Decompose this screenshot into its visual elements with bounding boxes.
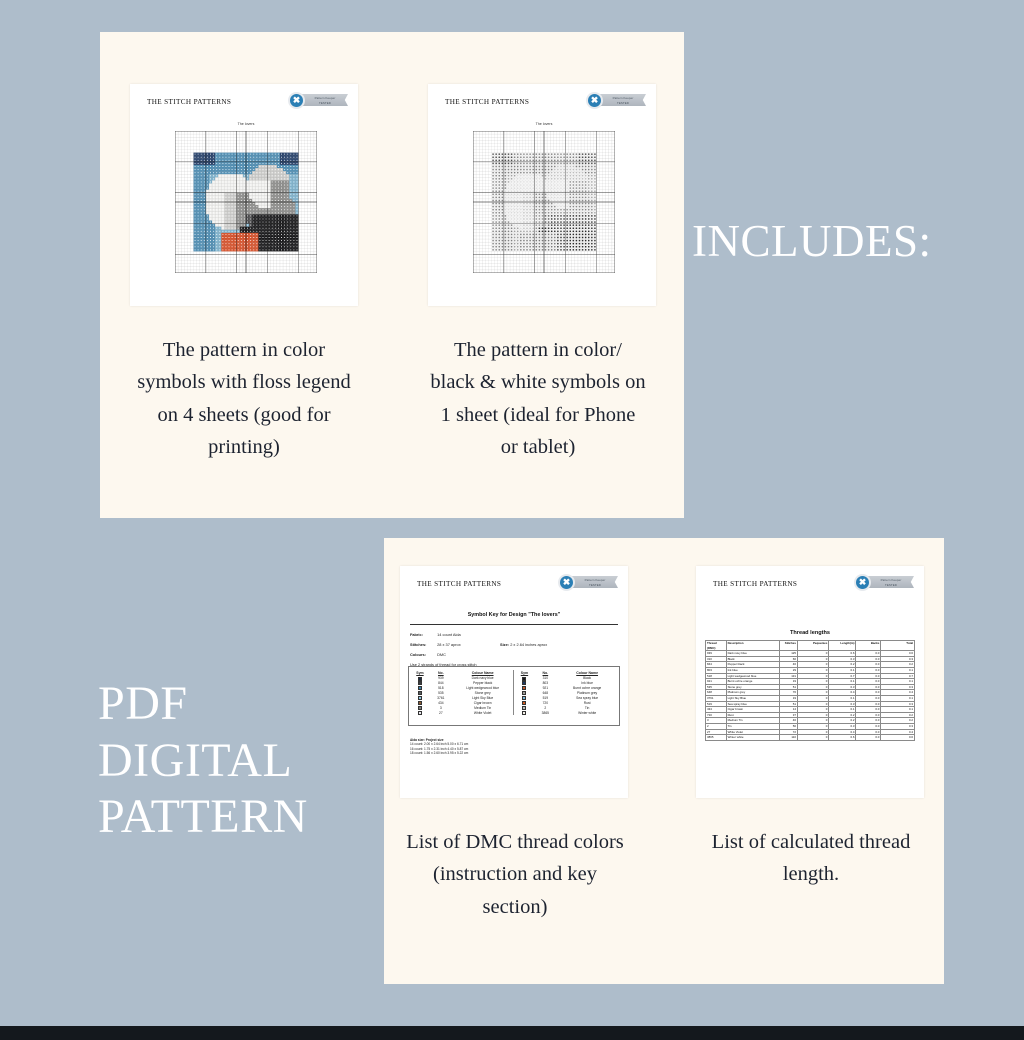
thread-lengths-body: 939Dark navy blue12500.60.00.6310Black66…: [706, 651, 915, 741]
table-row: 3865Winter white11000.60.00.6: [706, 735, 915, 741]
poster-stage: INCLUDES: PDF DIGITAL PATTERN THE STITCH…: [0, 0, 1024, 1040]
badge-ribbon: Pattern Keeper TESTED: [600, 94, 646, 106]
pattern-keeper-tested-badge: Pattern Keeper TESTED ✖: [558, 574, 618, 591]
badge-x-mark: ✖: [563, 578, 571, 587]
color-swatch-icon: [418, 696, 422, 700]
chart-design-label: The lovers: [175, 122, 317, 126]
thread-col-header: Backs: [856, 641, 881, 651]
badge-disc-icon: ✖: [558, 574, 575, 591]
color-swatch-icon: [522, 706, 526, 710]
sheet-brand-title: THE STITCH PATTERNS: [445, 98, 529, 106]
thread-col-header: Stitches: [779, 641, 797, 651]
color-swatch-icon: [522, 711, 526, 715]
caption-bw-symbols: The pattern in color/ black & white symb…: [430, 334, 646, 464]
badge-line-2: TESTED: [868, 582, 914, 588]
badge-x-mark: ✖: [293, 96, 301, 105]
sheet-brand-title: THE STITCH PATTERNS: [417, 580, 501, 588]
color-swatch-icon: [418, 686, 422, 690]
badge-ribbon: Pattern Keeper TESTED: [302, 94, 348, 106]
spec-colours: Colours: DMC: [410, 652, 446, 657]
spec-colours-label: Colours:: [410, 652, 436, 657]
thread-lengths-table: Thread (DMC)DescriptionStitchesPequenies…: [705, 640, 915, 741]
color-swatch-icon: [522, 686, 526, 690]
color-swatch-icon: [522, 691, 526, 695]
color-swatch-icon: [522, 677, 526, 681]
aida-size-footer: Aida size: Project size 14 count: 2.00 x…: [410, 738, 468, 755]
caption-color-symbols: The pattern in color symbols with floss …: [136, 334, 352, 464]
color-swatch-icon: [418, 706, 422, 710]
sheet-bw-symbol-chart[interactable]: THE STITCH PATTERNS Pattern Keeper TESTE…: [428, 84, 656, 306]
chart-design-label: The lovers: [473, 122, 615, 126]
color-swatch-icon: [418, 681, 422, 685]
pdf-line-2: DIGITAL: [98, 733, 308, 790]
pattern-keeper-tested-badge: Pattern Keeper TESTED ✖: [586, 92, 646, 109]
aida-footer-line: 14 count: 2.00 x 2.64 inch 5.00 x 6.71 c…: [410, 742, 468, 746]
spec-stitches: Stitches: 28 x 37 aprox: [410, 642, 461, 647]
spec-fabric: Fabric: 14 count Aida: [410, 632, 461, 637]
pdf-line-1: PDF: [98, 676, 308, 733]
caption-dmc-list: List of DMC thread colors (instruction a…: [404, 826, 626, 923]
symbol-key-table: SymNo.Colour NameSymNo.Colour Name 939Da…: [410, 670, 618, 715]
table-row: 27White Violet3865Winter white: [410, 710, 618, 715]
caption-thread-length: List of calculated thread length.: [700, 826, 922, 891]
color-swatch-icon: [418, 711, 422, 715]
thread-col-header: Length(m): [829, 641, 856, 651]
spec-fabric-label: Fabric:: [410, 632, 436, 637]
badge-line-2: TESTED: [600, 100, 646, 106]
aida-footer-lines: 14 count: 2.00 x 2.64 inch 5.00 x 6.71 c…: [410, 742, 468, 755]
color-swatch-icon: [418, 677, 422, 681]
badge-line-2: TESTED: [572, 582, 618, 588]
sheet-color-symbol-chart[interactable]: THE STITCH PATTERNS Pattern Keeper TESTE…: [130, 84, 358, 306]
pdf-digital-pattern-headline: PDF DIGITAL PATTERN: [98, 676, 308, 846]
thread-col-header: Description: [726, 641, 779, 651]
color-swatch-icon: [418, 691, 422, 695]
color-swatch-icon: [522, 696, 526, 700]
thread-lengths-header-row: Thread (DMC)DescriptionStitchesPequenies…: [706, 641, 915, 651]
bw-symbol-chart: The lovers: [473, 131, 615, 273]
color-symbol-chart: The lovers: [175, 131, 317, 273]
spec-size-label: Size:: [500, 642, 509, 647]
badge-ribbon: Pattern Keeper TESTED: [572, 576, 618, 588]
pdf-line-3: PATTERN: [98, 789, 308, 846]
bw-chart-canvas: [473, 131, 615, 273]
badge-x-mark: ✖: [591, 96, 599, 105]
sheet-symbol-key[interactable]: THE STITCH PATTERNS Pattern Keeper TESTE…: [400, 566, 628, 798]
thread-lengths-heading: Thread lengths: [696, 630, 924, 636]
thread-col-header: Pequenies: [798, 641, 829, 651]
pattern-keeper-tested-badge: Pattern Keeper TESTED ✖: [854, 574, 914, 591]
color-swatch-icon: [418, 701, 422, 705]
color-chart-canvas: [175, 131, 317, 273]
badge-line-2: TESTED: [302, 100, 348, 106]
symbol-key-body: 939Dark navy blue310Black844Pepper black…: [410, 676, 618, 715]
sheet-brand-title: THE STITCH PATTERNS: [147, 98, 231, 106]
spec-stitches-value: 28 x 37 aprox: [437, 642, 461, 647]
spec-fabric-value: 14 count Aida: [437, 632, 461, 637]
color-swatch-icon: [522, 701, 526, 705]
badge-disc-icon: ✖: [854, 574, 871, 591]
spec-stitches-label: Stitches:: [410, 642, 436, 647]
spec-size-value: 2 x 2.64 inches aprox: [510, 642, 547, 647]
thread-col-header: Thread (DMC): [706, 641, 727, 651]
pattern-keeper-tested-badge: Pattern Keeper TESTED ✖: [288, 92, 348, 109]
badge-x-mark: ✖: [859, 578, 867, 587]
divider-rule: [410, 624, 618, 625]
badge-disc-icon: ✖: [288, 92, 305, 109]
includes-headline: INCLUDES:: [692, 219, 932, 264]
badge-ribbon: Pattern Keeper TESTED: [868, 576, 914, 588]
spec-colours-value: DMC: [437, 652, 446, 657]
color-swatch-icon: [522, 681, 526, 685]
thread-col-header: Total: [881, 641, 915, 651]
bottom-strip: [0, 1026, 1024, 1040]
symbol-key-heading: Symbol Key for Design "The lovers": [400, 612, 628, 618]
spec-size: Size: 2 x 2.64 inches aprox: [500, 642, 547, 647]
aida-footer-line: 18 count: 1.56 x 2.60 inch 3.95 x 5.22 c…: [410, 751, 468, 755]
sheet-thread-lengths[interactable]: THE STITCH PATTERNS Pattern Keeper TESTE…: [696, 566, 924, 798]
sheet-brand-title: THE STITCH PATTERNS: [713, 580, 797, 588]
badge-disc-icon: ✖: [586, 92, 603, 109]
